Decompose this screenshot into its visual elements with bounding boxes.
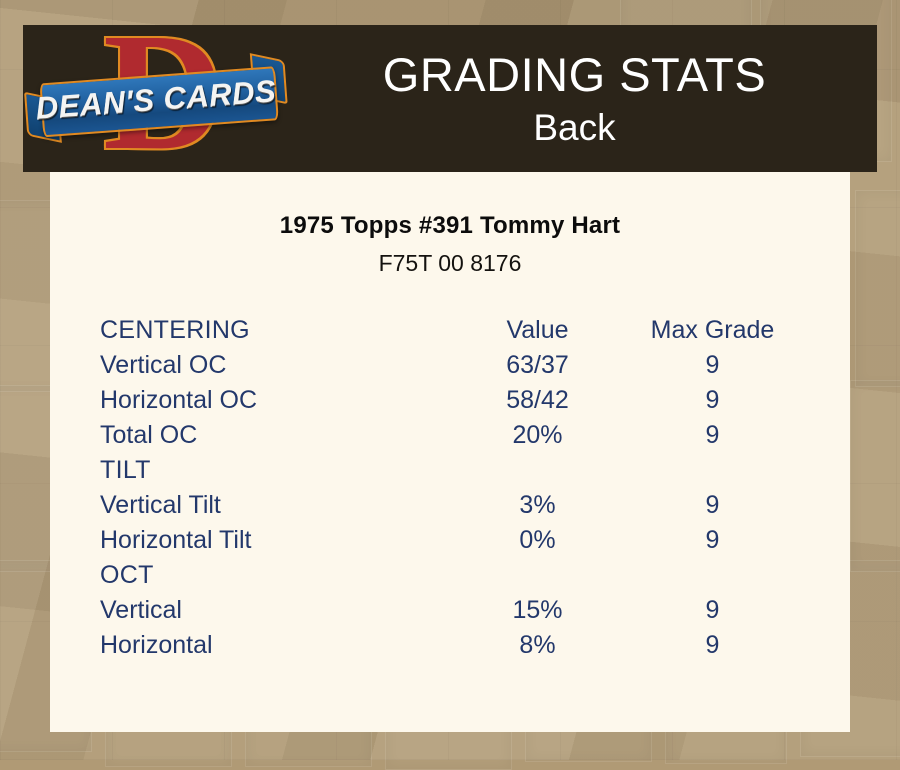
stats-row-max-grade: 9 bbox=[625, 523, 800, 558]
stats-row-max-grade: 9 bbox=[625, 348, 800, 383]
stats-row-value: 0% bbox=[450, 523, 625, 558]
stats-row-value: 63/37 bbox=[450, 348, 625, 383]
header-title-block: GRADING STATS Back bbox=[288, 47, 877, 151]
stats-row-value: 8% bbox=[450, 628, 625, 663]
stats-row-label: Horizontal OC bbox=[100, 383, 450, 418]
stats-row: Vertical Tilt3%9 bbox=[100, 488, 800, 523]
stats-section-header: OCT bbox=[100, 558, 800, 593]
logo-ribbon: DEAN'S CARDS bbox=[29, 62, 283, 138]
stats-section-header: CENTERINGValueMax Grade bbox=[100, 313, 800, 348]
column-header-value bbox=[450, 558, 625, 593]
stats-row: Horizontal8%9 bbox=[100, 628, 800, 663]
column-header-value bbox=[450, 453, 625, 488]
content-panel: 1975 Topps #391 Tommy Hart F75T 00 8176 … bbox=[50, 172, 850, 732]
deans-cards-logo[interactable]: D DEAN'S CARDS bbox=[23, 25, 288, 172]
stats-row: Vertical OC63/379 bbox=[100, 348, 800, 383]
stats-row-max-grade: 9 bbox=[625, 628, 800, 663]
stats-row-value: 3% bbox=[450, 488, 625, 523]
background-card-ghost bbox=[850, 380, 900, 572]
stats-row-label: Horizontal bbox=[100, 628, 450, 663]
header-bar: D DEAN'S CARDS GRADING STATS Back bbox=[23, 25, 877, 172]
card-serial-number: F75T 00 8176 bbox=[50, 250, 850, 277]
stats-row-max-grade: 9 bbox=[625, 488, 800, 523]
stats-row-label: Vertical OC bbox=[100, 348, 450, 383]
stats-section-name: CENTERING bbox=[100, 313, 450, 348]
stats-row-value: 20% bbox=[450, 418, 625, 453]
stats-section-name: TILT bbox=[100, 453, 450, 488]
stats-section-header: TILT bbox=[100, 453, 800, 488]
column-header-max-grade: Max Grade bbox=[625, 313, 800, 348]
grading-stats-table: CENTERINGValueMax GradeVertical OC63/379… bbox=[100, 313, 800, 663]
card-title: 1975 Topps #391 Tommy Hart bbox=[50, 212, 850, 240]
column-header-max-grade bbox=[625, 453, 800, 488]
stats-row-label: Horizontal Tilt bbox=[100, 523, 450, 558]
page-subtitle: Back bbox=[288, 105, 861, 151]
stats-row-label: Total OC bbox=[100, 418, 450, 453]
background-card-ghost bbox=[855, 190, 900, 387]
column-header-value: Value bbox=[450, 313, 625, 348]
stats-row-max-grade: 9 bbox=[625, 418, 800, 453]
stats-row-label: Vertical Tilt bbox=[100, 488, 450, 523]
logo-wordmark: DEAN'S CARDS bbox=[30, 66, 283, 134]
stats-row-max-grade: 9 bbox=[625, 593, 800, 628]
stats-row: Horizontal OC58/429 bbox=[100, 383, 800, 418]
page-title: GRADING STATS bbox=[288, 47, 861, 103]
stats-row: Horizontal Tilt0%9 bbox=[100, 523, 800, 558]
stats-row-value: 58/42 bbox=[450, 383, 625, 418]
stats-row-max-grade: 9 bbox=[625, 383, 800, 418]
stats-row: Vertical15%9 bbox=[100, 593, 800, 628]
stats-row-label: Vertical bbox=[100, 593, 450, 628]
stats-row-value: 15% bbox=[450, 593, 625, 628]
stats-row: Total OC20%9 bbox=[100, 418, 800, 453]
stats-section-name: OCT bbox=[100, 558, 450, 593]
column-header-max-grade bbox=[625, 558, 800, 593]
